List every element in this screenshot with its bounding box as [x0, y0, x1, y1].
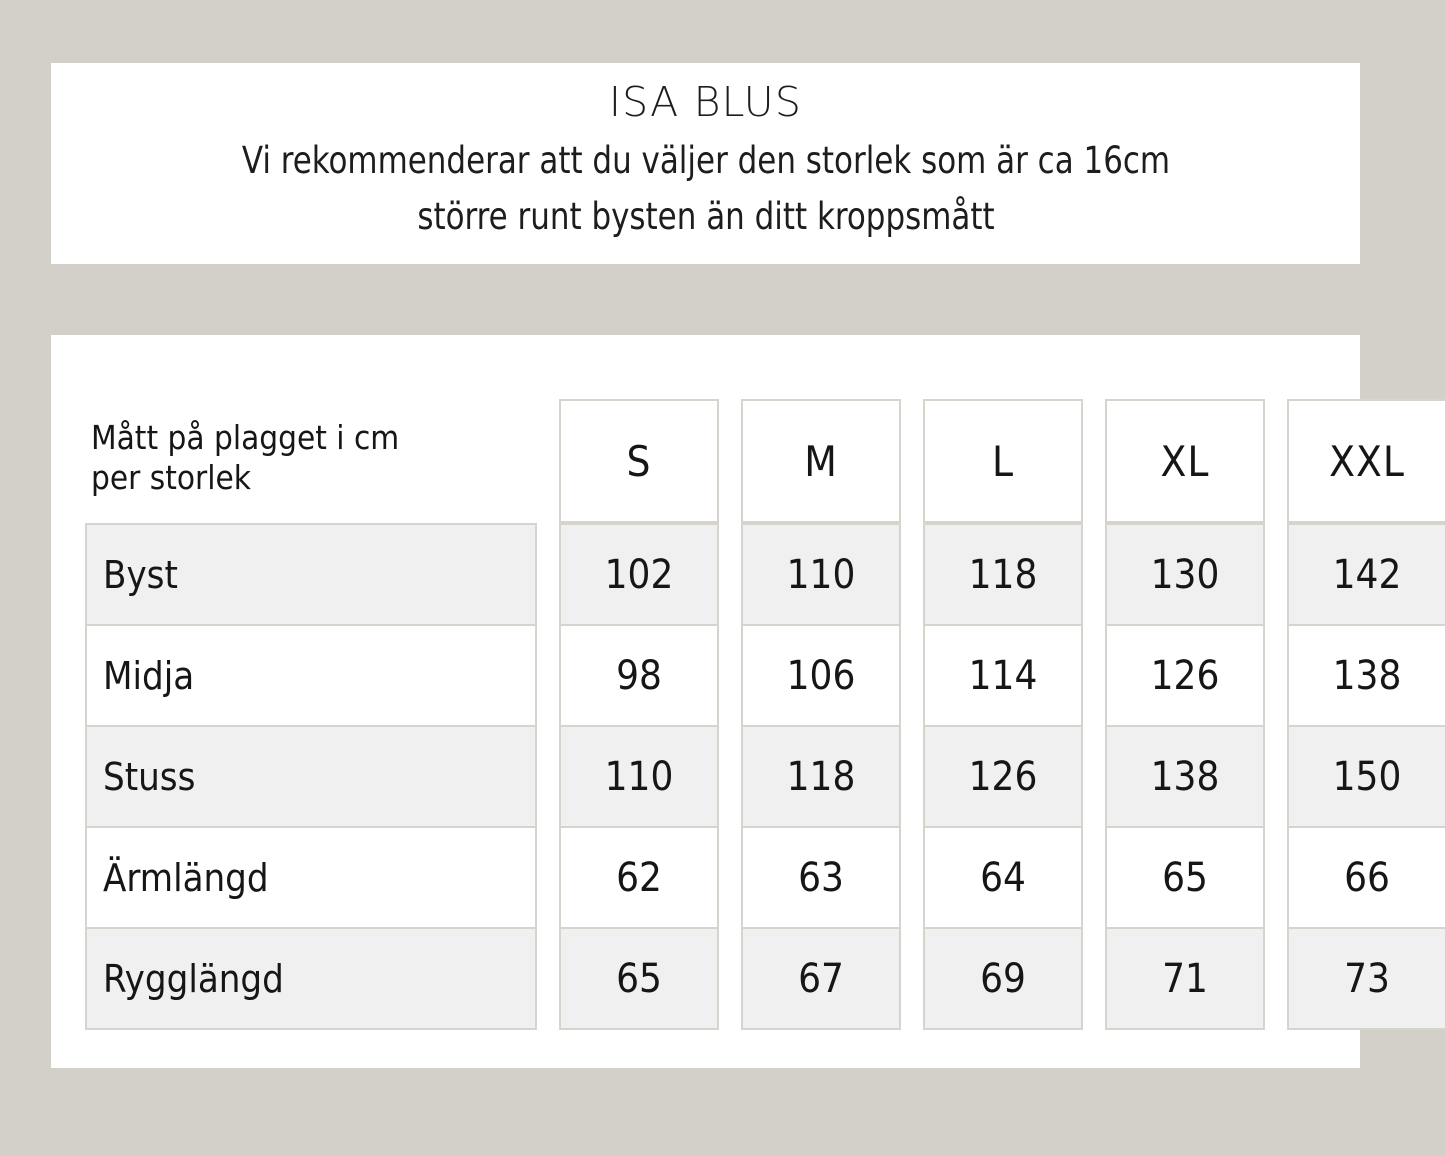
column-gap [1265, 399, 1287, 523]
size-header-xxl: XXL [1287, 399, 1445, 523]
table-row: Ärmlängd 62 63 64 65 66 [85, 828, 1445, 929]
cell-byst-l: 118 [923, 523, 1083, 626]
cell-armlangd-l: 64 [923, 828, 1083, 929]
size-chart-page: ISA BLUS Vi rekommenderar att du väljer … [0, 0, 1445, 1156]
table-row: Byst 102 110 118 130 142 [85, 523, 1445, 626]
row-label-stuss: Stuss [85, 727, 537, 828]
column-gap [901, 523, 923, 626]
cell-armlangd-s: 62 [559, 828, 719, 929]
page-title: ISA BLUS [609, 77, 802, 127]
column-gap [901, 399, 923, 523]
column-gap [1265, 929, 1287, 1030]
table-header-row: Mått på plagget i cm per storlek S M L X… [85, 399, 1445, 523]
measurement-description-line-2: per storlek [91, 458, 537, 498]
column-gap [901, 626, 923, 727]
column-gap [1083, 727, 1105, 828]
column-gap [719, 929, 741, 1030]
recommendation-line-1: Vi rekommenderar att du väljer den storl… [106, 133, 1306, 189]
column-gap [1265, 828, 1287, 929]
size-header-s: S [559, 399, 719, 523]
column-gap [719, 828, 741, 929]
cell-rygglangd-m: 67 [741, 929, 901, 1030]
cell-byst-s: 102 [559, 523, 719, 626]
cell-midja-xl: 126 [1105, 626, 1265, 727]
table-card: Mått på plagget i cm per storlek S M L X… [51, 335, 1360, 1068]
size-measurements-table: Mått på plagget i cm per storlek S M L X… [85, 399, 1445, 1030]
cell-rygglangd-s: 65 [559, 929, 719, 1030]
cell-armlangd-m: 63 [741, 828, 901, 929]
cell-stuss-xl: 138 [1105, 727, 1265, 828]
column-gap [901, 727, 923, 828]
header-card: ISA BLUS Vi rekommenderar att du väljer … [51, 63, 1360, 264]
column-gap [1265, 727, 1287, 828]
table-row: Stuss 110 118 126 138 150 [85, 727, 1445, 828]
column-gap [1083, 828, 1105, 929]
cell-midja-l: 114 [923, 626, 1083, 727]
cell-stuss-l: 126 [923, 727, 1083, 828]
column-gap [719, 399, 741, 523]
size-header-l: L [923, 399, 1083, 523]
column-gap [537, 626, 559, 727]
column-gap [1265, 523, 1287, 626]
measurement-description-header: Mått på plagget i cm per storlek [85, 399, 537, 523]
column-gap [537, 523, 559, 626]
column-gap [901, 828, 923, 929]
cell-byst-m: 110 [741, 523, 901, 626]
column-gap [537, 828, 559, 929]
cell-byst-xxl: 142 [1287, 523, 1445, 626]
measurement-description-line-1: Mått på plagget i cm [91, 418, 537, 458]
size-header-xl: XL [1105, 399, 1265, 523]
cell-stuss-xxl: 150 [1287, 727, 1445, 828]
cell-stuss-m: 118 [741, 727, 901, 828]
cell-rygglangd-l: 69 [923, 929, 1083, 1030]
column-gap [1265, 626, 1287, 727]
cell-rygglangd-xl: 71 [1105, 929, 1265, 1030]
cell-armlangd-xxl: 66 [1287, 828, 1445, 929]
table-row: Midja 98 106 114 126 138 [85, 626, 1445, 727]
cell-armlangd-xl: 65 [1105, 828, 1265, 929]
cell-midja-xxl: 138 [1287, 626, 1445, 727]
recommendation-text: Vi rekommenderar att du väljer den storl… [106, 133, 1306, 245]
cell-midja-m: 106 [741, 626, 901, 727]
column-gap [719, 727, 741, 828]
column-gap [537, 399, 559, 523]
size-header-m: M [741, 399, 901, 523]
row-label-byst: Byst [85, 523, 537, 626]
column-gap [901, 929, 923, 1030]
row-label-midja: Midja [85, 626, 537, 727]
row-label-rygglangd: Rygglängd [85, 929, 537, 1030]
cell-rygglangd-xxl: 73 [1287, 929, 1445, 1030]
column-gap [1083, 626, 1105, 727]
column-gap [1083, 399, 1105, 523]
row-label-armlangd: Ärmlängd [85, 828, 537, 929]
recommendation-line-2: större runt bysten än ditt kroppsmått [106, 189, 1306, 245]
cell-byst-xl: 130 [1105, 523, 1265, 626]
column-gap [537, 727, 559, 828]
cell-stuss-s: 110 [559, 727, 719, 828]
column-gap [719, 523, 741, 626]
cell-midja-s: 98 [559, 626, 719, 727]
column-gap [1083, 929, 1105, 1030]
column-gap [1083, 523, 1105, 626]
column-gap [719, 626, 741, 727]
column-gap [537, 929, 559, 1030]
table-row: Rygglängd 65 67 69 71 73 [85, 929, 1445, 1030]
